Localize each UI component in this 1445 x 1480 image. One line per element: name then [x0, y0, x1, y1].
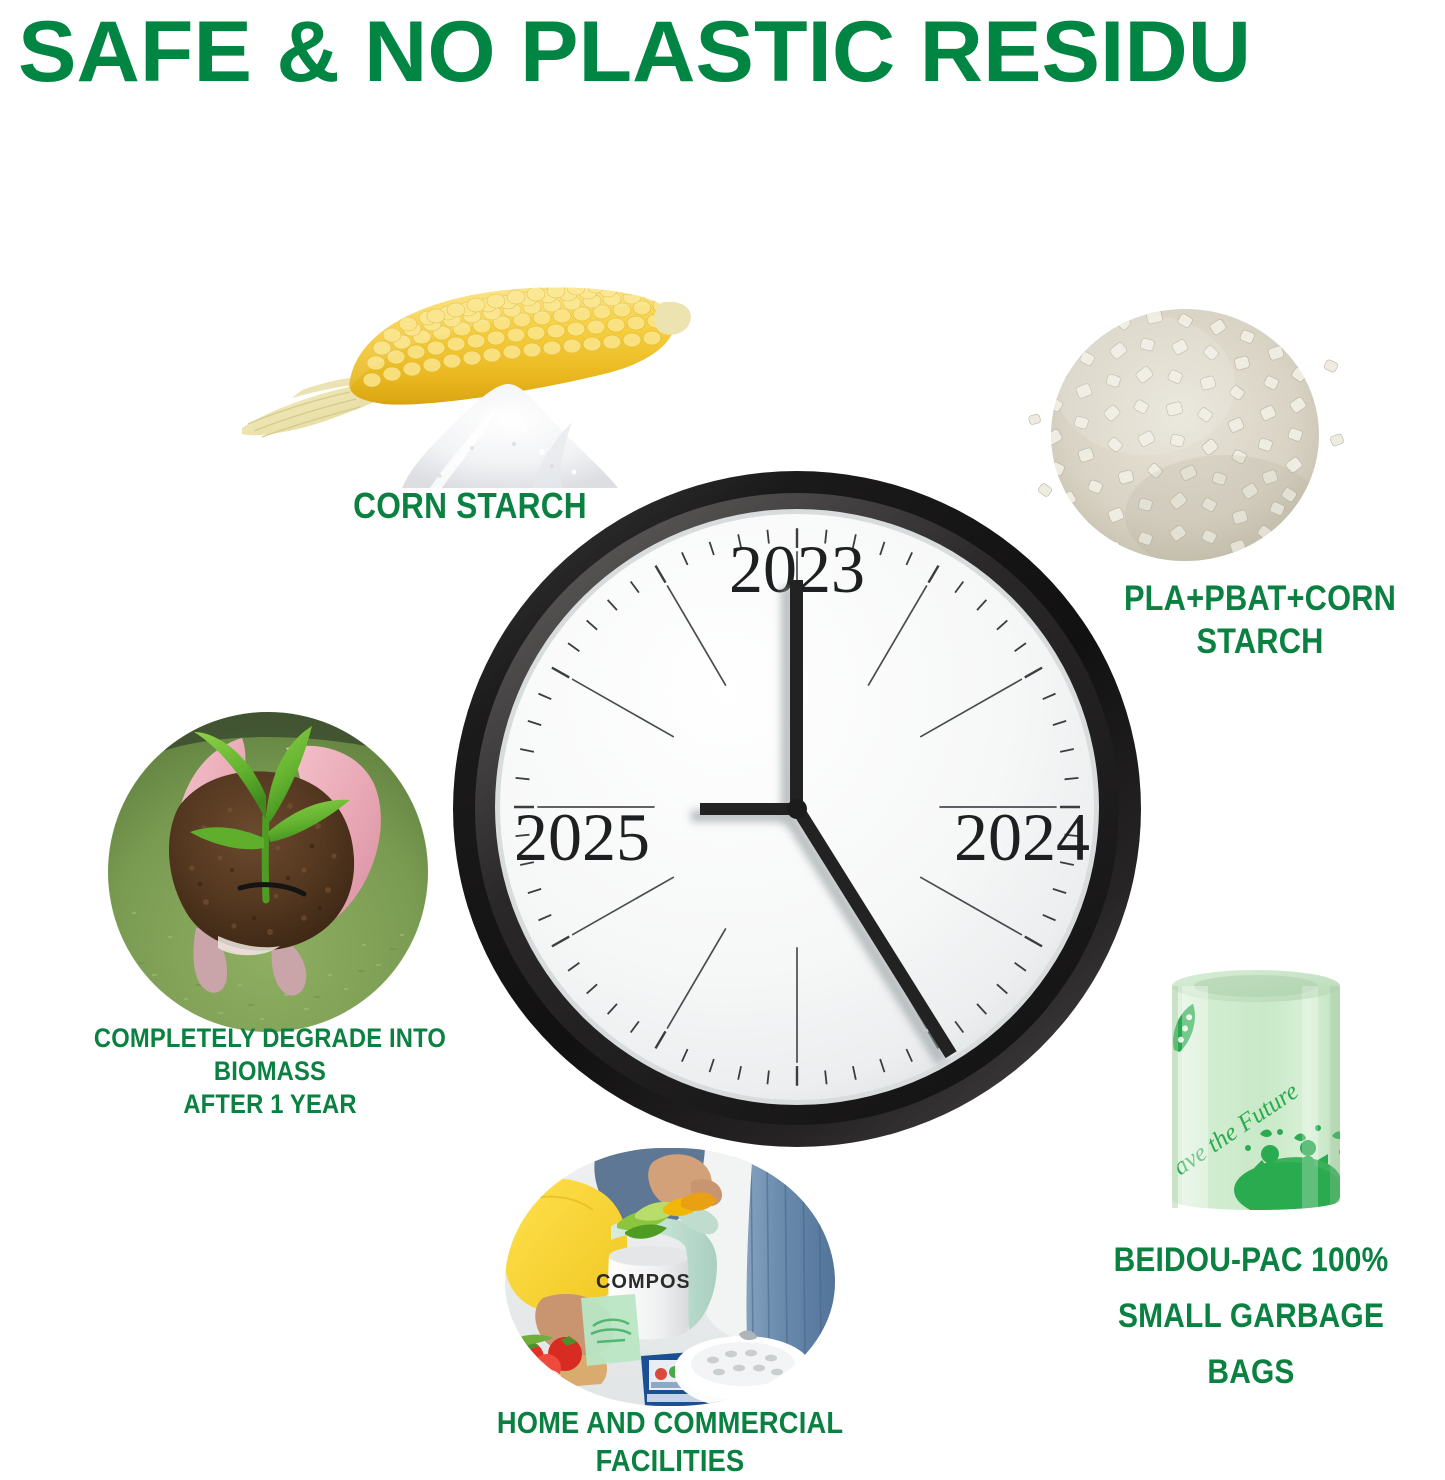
caption-home-commercial: HOME AND COMMERCIAL FACILITIES [468, 1404, 873, 1480]
caption-line-1: BEIDOU-PAC 100% [1087, 1232, 1414, 1288]
caption-line-1: COMPLETELY DEGRADE INTO BIOMASS [81, 1022, 459, 1088]
caption-degrade-biomass: COMPLETELY DEGRADE INTO BIOMASS AFTER 1 … [81, 1022, 459, 1121]
corn-starch-image [232, 238, 722, 488]
garbage-bag-roll-image: ave the Future [1152, 962, 1362, 1212]
caption-pla-pbat: PLA+PBAT+CORN STARCH [1098, 578, 1422, 663]
biomass-photo [108, 712, 428, 1032]
caption-line-2: SMALL GARBAGE BAGS [1087, 1288, 1414, 1400]
page-title: SAFE & NO PLASTIC RESIDU [18, 4, 1445, 100]
caption-line-2: AFTER 1 YEAR [81, 1088, 459, 1121]
clock-center-cap [787, 799, 807, 819]
degradation-clock: 2023 2024 2025 [452, 468, 1142, 1150]
clock-year-2024: 2024 [954, 799, 1090, 875]
caption-beidou-pac: BEIDOU-PAC 100% SMALL GARBAGE BAGS [1087, 1232, 1414, 1400]
compost-bin-label: COMPOST [596, 1271, 704, 1293]
clock-minute-hand [790, 580, 803, 810]
clock-year-2025: 2025 [514, 799, 650, 875]
home-commercial-photo: COMPOST [505, 1148, 835, 1406]
clock-hand-counterweight [700, 803, 800, 815]
